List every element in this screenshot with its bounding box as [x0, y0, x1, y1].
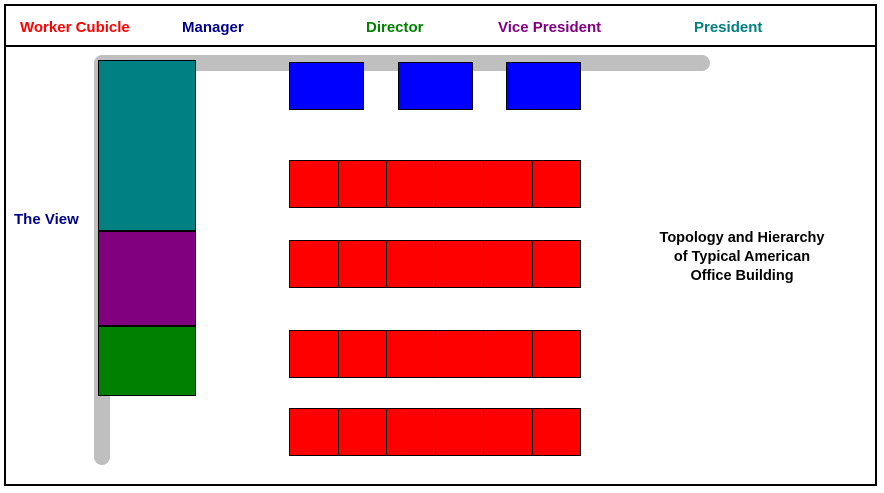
- office-manager: [398, 62, 473, 110]
- worker-cubicle: [484, 241, 533, 287]
- worker-cubicle: [436, 331, 485, 377]
- worker-cubicle: [533, 161, 581, 207]
- legend-item-director: Director: [366, 19, 424, 36]
- worker-cubicle: [436, 241, 485, 287]
- legend-item-worker-cubicle: Worker Cubicle: [20, 19, 130, 36]
- office-director: [98, 326, 196, 396]
- worker-cubicle: [290, 241, 339, 287]
- worker-cubicle: [436, 409, 485, 455]
- worker-cubicle: [387, 409, 436, 455]
- worker-cubicle: [290, 161, 339, 207]
- worker-cubicle: [533, 409, 581, 455]
- the-view-label: The View: [14, 211, 79, 228]
- cubicle-row: [289, 240, 581, 288]
- diagram-caption-line: Topology and Hierarchy: [622, 229, 862, 248]
- cubicle-row: [289, 408, 581, 456]
- office-vice-president: [98, 231, 196, 326]
- worker-cubicle: [484, 409, 533, 455]
- worker-cubicle: [387, 331, 436, 377]
- office-manager: [506, 62, 581, 110]
- legend-item-manager: Manager: [182, 19, 244, 36]
- cubicle-row: [289, 160, 581, 208]
- cubicle-row: [289, 330, 581, 378]
- office-manager: [289, 62, 364, 110]
- diagram-canvas: Worker Cubicle Manager Director Vice Pre…: [0, 0, 884, 493]
- worker-cubicle: [484, 161, 533, 207]
- legend-item-president: President: [694, 19, 762, 36]
- worker-cubicle: [387, 161, 436, 207]
- worker-cubicle: [290, 331, 339, 377]
- worker-cubicle: [533, 331, 581, 377]
- worker-cubicle: [387, 241, 436, 287]
- legend-bar: Worker Cubicle Manager Director Vice Pre…: [6, 6, 875, 47]
- worker-cubicle: [533, 241, 581, 287]
- diagram-caption-line: of Typical American: [622, 248, 862, 267]
- worker-cubicle: [339, 241, 388, 287]
- worker-cubicle: [339, 409, 388, 455]
- diagram-caption: Topology and Hierarchy of Typical Americ…: [622, 229, 862, 286]
- worker-cubicle: [436, 161, 485, 207]
- worker-cubicle: [484, 331, 533, 377]
- worker-cubicle: [290, 409, 339, 455]
- legend-item-vice-president: Vice President: [498, 19, 601, 36]
- office-president: [98, 60, 196, 231]
- worker-cubicle: [339, 331, 388, 377]
- diagram-caption-line: Office Building: [622, 267, 862, 286]
- worker-cubicle: [339, 161, 388, 207]
